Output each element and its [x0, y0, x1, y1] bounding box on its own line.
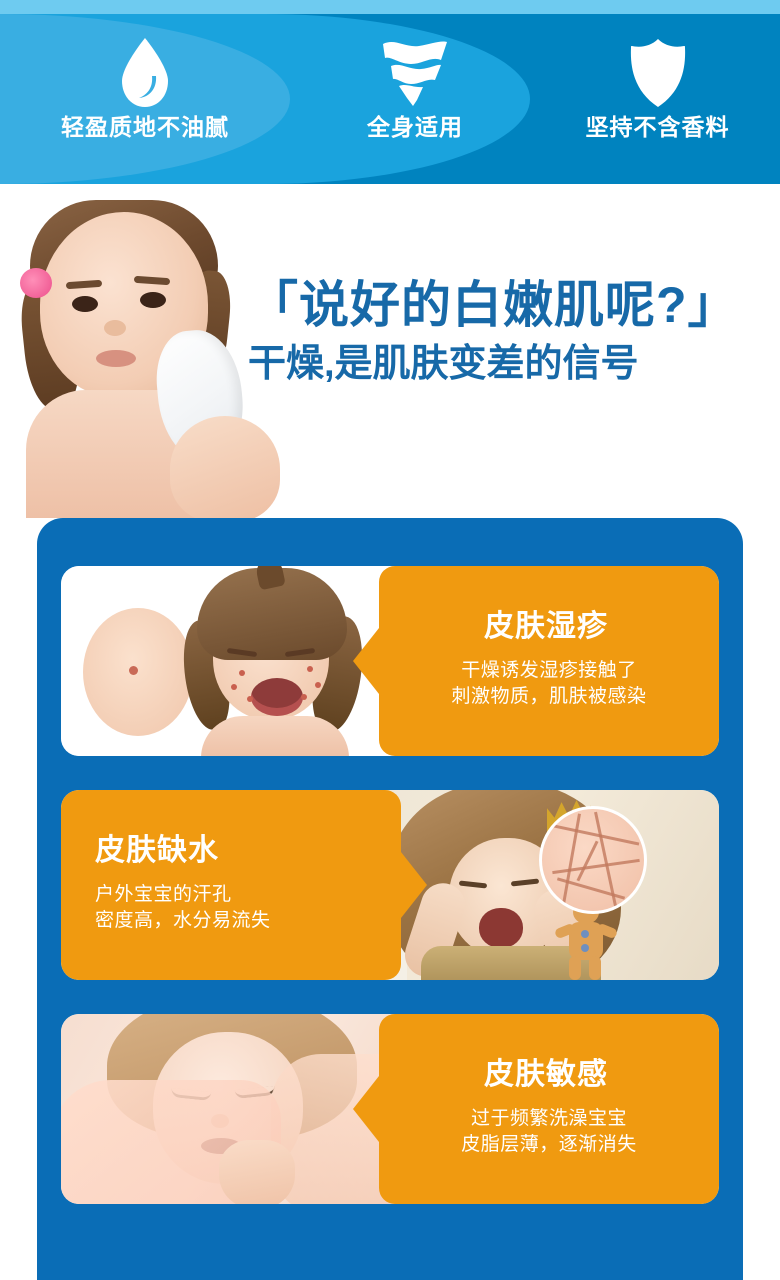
- feature-item-3[interactable]: 坚持不含香料: [545, 14, 770, 184]
- card-1-body-line-2: 刺激物质，肌肤被感染: [451, 684, 646, 710]
- card-2-notch-icon: [401, 852, 427, 918]
- layered-waves-icon: [379, 34, 451, 112]
- feature-label-2: 全身适用: [367, 116, 463, 139]
- card-3-notch-icon: [353, 1076, 379, 1142]
- feature-item-1[interactable]: 轻盈质地不油腻: [20, 14, 270, 184]
- water-drop-icon: [116, 34, 174, 112]
- hero-text-block: 「说好的白嫩肌呢?」 干燥,是肌肤变差的信号: [248, 280, 768, 387]
- card-1-title: 皮肤湿疹: [484, 612, 608, 642]
- card-3-body-line-2: 皮脂层薄，逐渐消失: [461, 1132, 637, 1158]
- hero-title: 「说好的白嫩肌呢?」: [248, 280, 768, 331]
- card-3-text-panel: 皮肤敏感 过于频繁洗澡宝宝 皮脂层薄，逐渐消失: [379, 1014, 719, 1204]
- card-2-body-line-2: 密度高，水分易流失: [95, 908, 271, 934]
- card-3-title: 皮肤敏感: [484, 1060, 608, 1090]
- promo-page: 轻盈质地不油腻 全身适用 坚持不含香料: [0, 0, 780, 1280]
- problem-card[interactable]: 皮肤缺水 户外宝宝的汗孔 密度高，水分易流失: [61, 790, 719, 980]
- hero-section: 「说好的白嫩肌呢?」 干燥,是肌肤变差的信号: [0, 184, 780, 518]
- card-2-title: 皮肤缺水: [95, 836, 219, 866]
- problems-container: 皮肤湿疹 干燥诱发湿疹接触了 刺激物质，肌肤被感染: [37, 518, 743, 1280]
- feature-banner: 轻盈质地不油腻 全身适用 坚持不含香料: [0, 0, 780, 184]
- card-1-body-line-1: 干燥诱发湿疹接触了: [461, 658, 637, 684]
- problem-card[interactable]: 皮肤湿疹 干燥诱发湿疹接触了 刺激物质，肌肤被感染: [61, 566, 719, 756]
- banner-top-strip: [0, 0, 780, 14]
- dry-skin-closeup-inset: [539, 806, 647, 914]
- hero-subtitle: 干燥,是肌肤变差的信号: [248, 343, 768, 387]
- feature-label-3: 坚持不含香料: [586, 116, 730, 139]
- card-2-body-line-1: 户外宝宝的汗孔: [95, 882, 232, 908]
- shield-icon: [627, 34, 689, 112]
- card-3-body-line-1: 过于频繁洗澡宝宝: [471, 1106, 627, 1132]
- card-1-notch-icon: [353, 628, 379, 694]
- card-2-text-panel: 皮肤缺水 户外宝宝的汗孔 密度高，水分易流失: [61, 790, 401, 980]
- feature-item-2[interactable]: 全身适用: [300, 14, 530, 184]
- card-1-text-panel: 皮肤湿疹 干燥诱发湿疹接触了 刺激物质，肌肤被感染: [379, 566, 719, 756]
- feature-label-1: 轻盈质地不油腻: [61, 116, 229, 139]
- problem-card[interactable]: 皮肤敏感 过于频繁洗澡宝宝 皮脂层薄，逐渐消失: [61, 1014, 719, 1204]
